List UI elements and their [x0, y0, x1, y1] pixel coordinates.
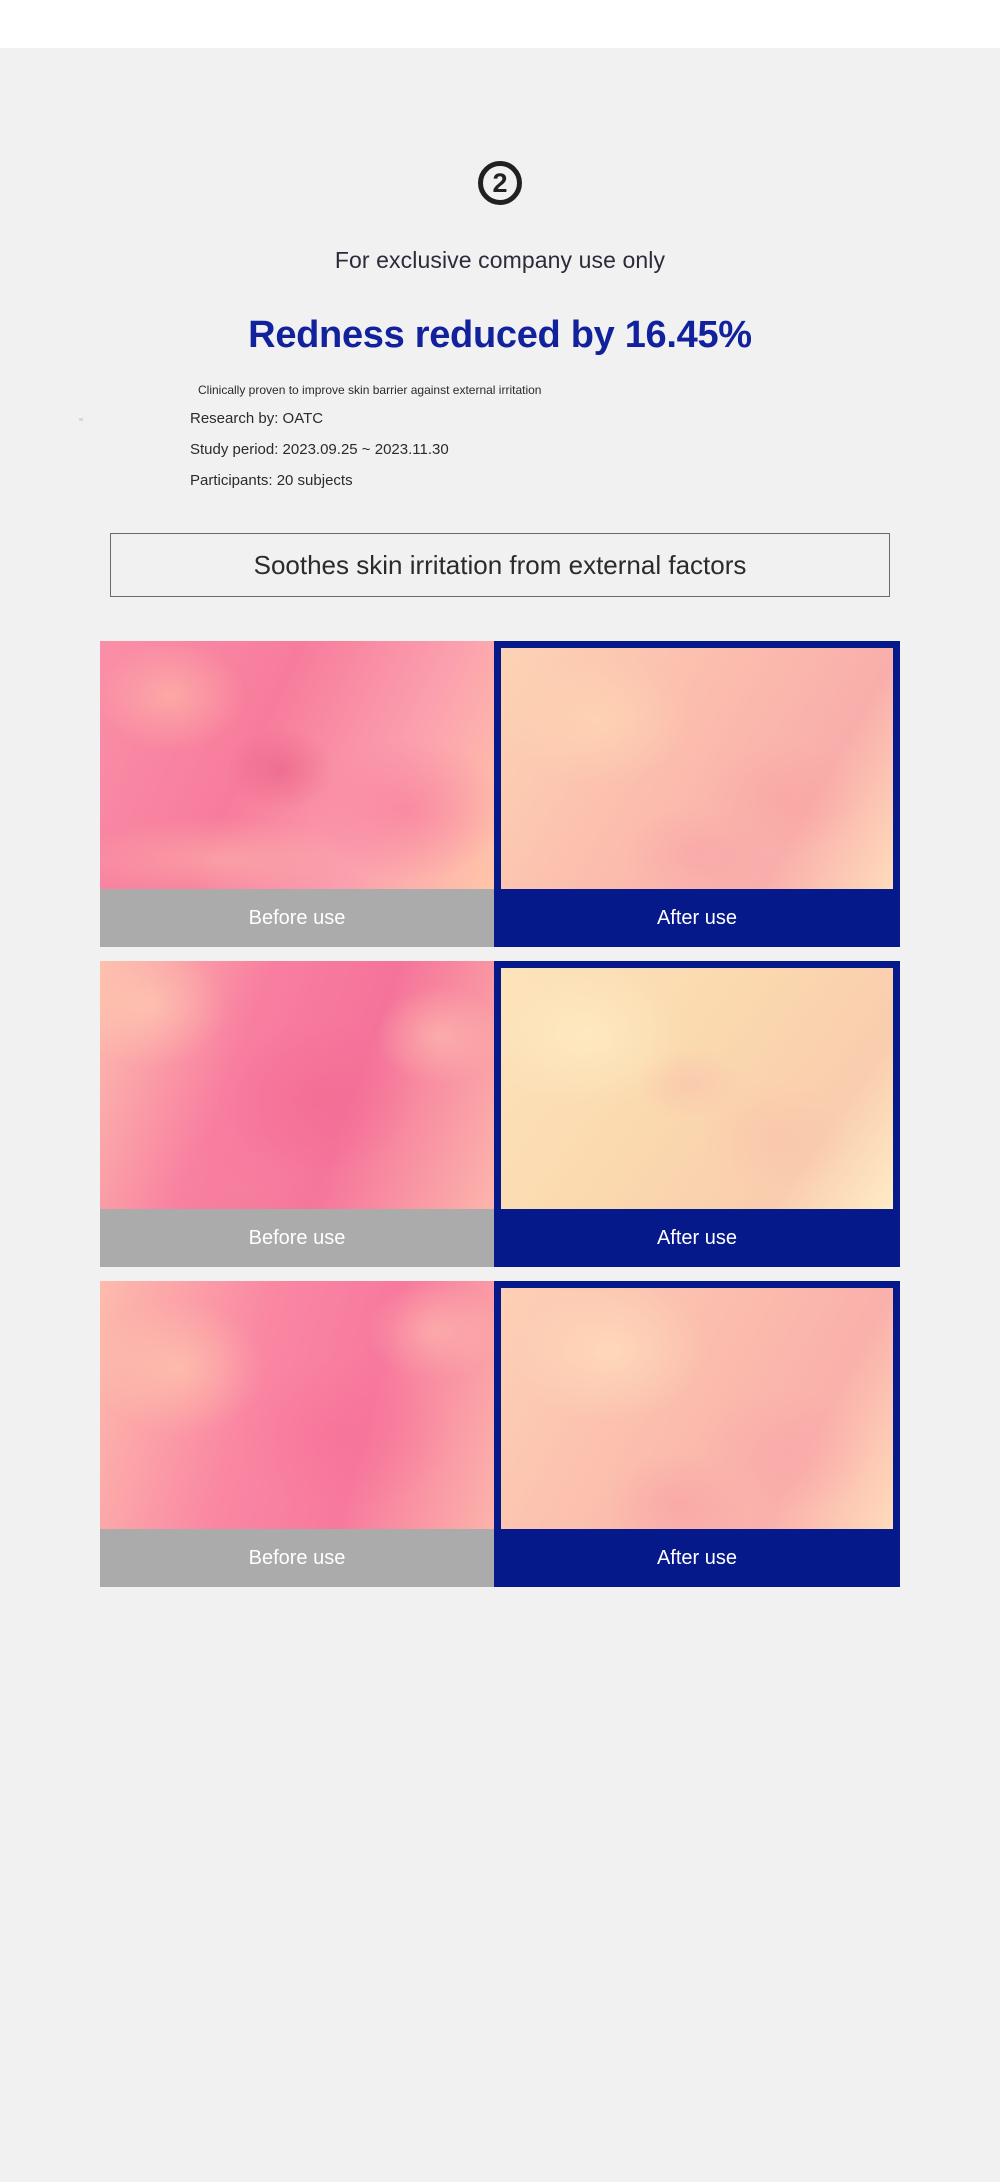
comparison-row: Before use After use	[100, 961, 900, 1267]
skin-closeup-before-1-image	[100, 641, 494, 889]
stray-mark	[79, 418, 83, 421]
after-caption-1: After use	[494, 889, 900, 947]
exclusive-notice: For exclusive company use only	[0, 247, 1000, 274]
participants-text: Participants: 20 subjects	[190, 472, 1000, 489]
skin-closeup-before-3-image	[100, 1281, 494, 1529]
after-panel-3: After use	[494, 1281, 900, 1587]
after-caption-3: After use	[494, 1529, 900, 1587]
after-image-frame-2	[494, 961, 900, 1209]
after-panel-1: After use	[494, 641, 900, 947]
after-caption-2: After use	[494, 1209, 900, 1267]
clinical-claim-text: Clinically proven to improve skin barrie…	[190, 383, 1000, 397]
comparison-row: Before use After use	[100, 1281, 900, 1587]
page-title: Redness reduced by 16.45%	[0, 314, 1000, 357]
claim-box-wrapper: Soothes skin irritation from external fa…	[0, 533, 1000, 597]
study-period-text: Study period: 2023.09.25 ~ 2023.11.30	[190, 441, 1000, 458]
research-by-text: Research by: OATC	[190, 410, 1000, 427]
after-image-frame-3	[494, 1281, 900, 1529]
after-image-frame-1	[494, 641, 900, 889]
comparison-grid: Before use After use Before use	[0, 641, 1000, 1587]
before-panel-2: Before use	[100, 961, 494, 1267]
skin-closeup-after-1-image	[501, 648, 893, 889]
skin-closeup-before-2-image	[100, 961, 494, 1209]
skin-closeup-after-2-image	[501, 968, 893, 1209]
after-panel-2: After use	[494, 961, 900, 1267]
skin-closeup-after-3-image	[501, 1288, 893, 1529]
comparison-row: Before use After use	[100, 641, 900, 947]
before-caption-3: Before use	[100, 1529, 494, 1587]
before-panel-3: Before use	[100, 1281, 494, 1587]
top-white-strip	[0, 0, 1000, 48]
content-sheet: 2 For exclusive company use only Redness…	[0, 48, 1000, 2182]
before-panel-1: Before use	[100, 641, 494, 947]
circled-number-icon: 2	[478, 161, 522, 205]
section-badge: 2	[0, 161, 1000, 205]
before-caption-2: Before use	[100, 1209, 494, 1267]
before-caption-1: Before use	[100, 889, 494, 947]
study-meta-block: Clinically proven to improve skin barrie…	[0, 383, 1000, 489]
claim-box: Soothes skin irritation from external fa…	[110, 533, 890, 597]
content-column: 2 For exclusive company use only Redness…	[0, 161, 1000, 1587]
page-root: 2 For exclusive company use only Redness…	[0, 0, 1000, 2182]
